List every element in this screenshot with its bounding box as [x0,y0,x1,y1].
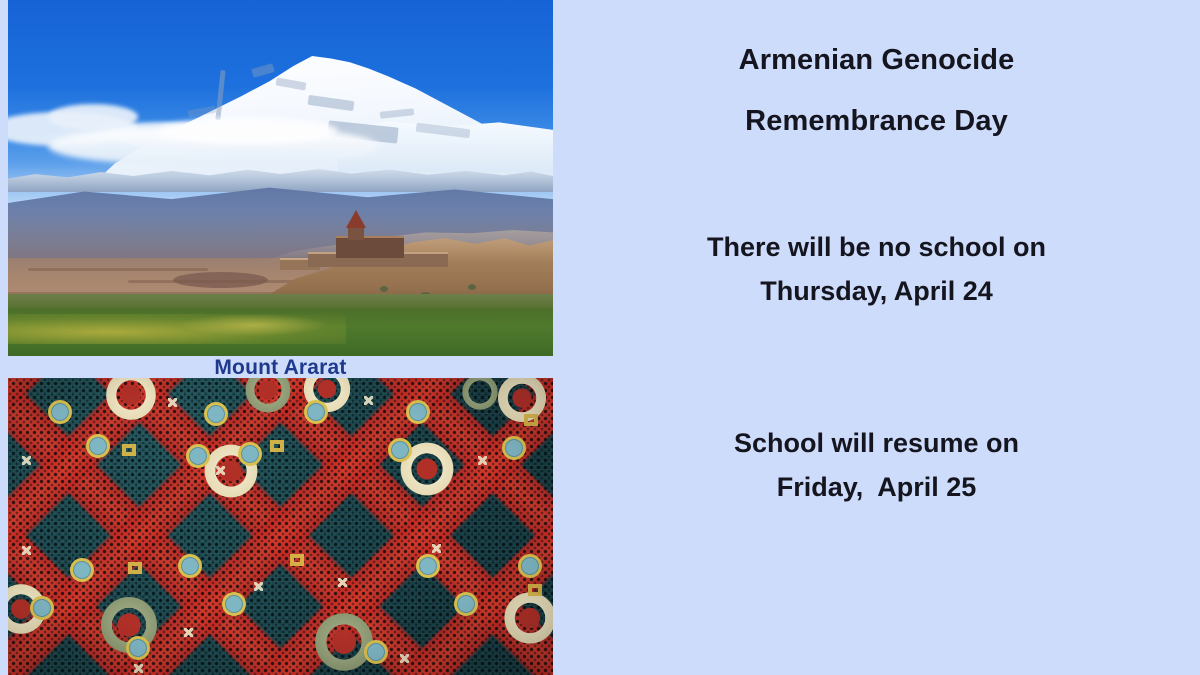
textile-medallion [406,400,430,424]
textile-cross-motif [478,456,487,465]
resume-line-2: Friday, April 25 [553,474,1200,501]
textile-cross-motif [22,546,31,555]
textile-medallion [304,400,328,424]
textile-medallion [178,554,202,578]
textile-medallion [502,436,526,460]
no-school-announcement: There will be no school on Thursday, Apr… [553,234,1200,305]
monastery-building [336,236,404,258]
announcement-panel: Armenian Genocide Remembrance Day There … [553,0,1200,675]
textile-rosette-cream [498,586,553,650]
textile-medallion [388,438,412,462]
mount-ararat-image [8,0,553,356]
textile-gold-motif [122,444,136,456]
textile-medallion [222,592,246,616]
textile-medallion [30,596,54,620]
resume-announcement: School will resume on Friday, April 25 [553,430,1200,501]
mid-level-cloud-puff [158,118,338,144]
textile-cross-motif [184,628,193,637]
textile-gold-motif [128,562,142,574]
textile-rosette-olive [308,606,380,675]
page-title: Armenian Genocide Remembrance Day [553,46,1200,136]
no-school-line-2: Thursday, April 24 [553,278,1200,305]
textile-medallion [364,640,388,664]
textile-gold-motif [524,414,538,426]
yellow-field-patch [178,314,328,336]
slide-canvas: Mount Ararat [0,0,1200,675]
shrub [468,284,476,290]
textile-medallion [48,400,72,424]
title-line-2: Remembrance Day [553,107,1200,136]
textile-cross-motif [134,664,143,673]
caption-label: Mount Ararat [214,357,346,378]
shrub [380,286,388,292]
resume-line-1: School will resume on [553,430,1200,457]
textile-medallion [204,402,228,426]
textile-cross-motif [364,396,373,405]
mount-ararat-caption: Mount Ararat [8,356,553,378]
textile-gold-motif [528,584,542,596]
textile-cross-motif [22,456,31,465]
plain-streak [28,268,208,271]
textile-cross-motif [216,466,225,475]
textile-medallion [454,592,478,616]
textile-stitch-texture [8,378,553,675]
textile-medallion [86,434,110,458]
no-school-line-1: There will be no school on [553,234,1200,261]
textile-gold-motif [270,440,284,452]
textile-cross-motif [168,398,177,407]
textile-cross-motif [400,654,409,663]
textile-medallion [70,558,94,582]
textile-cross-motif [432,544,441,553]
textile-medallion [238,442,262,466]
title-line-1: Armenian Genocide [553,46,1200,75]
monastery-drum [348,226,364,240]
textile-medallion [518,554,542,578]
textile-cross-motif [338,578,347,587]
textile-gold-motif [290,554,304,566]
textile-cross-motif [254,582,263,591]
armenian-textile-image [8,378,553,675]
textile-medallion [126,636,150,660]
textile-medallion [186,444,210,468]
textile-medallion [416,554,440,578]
